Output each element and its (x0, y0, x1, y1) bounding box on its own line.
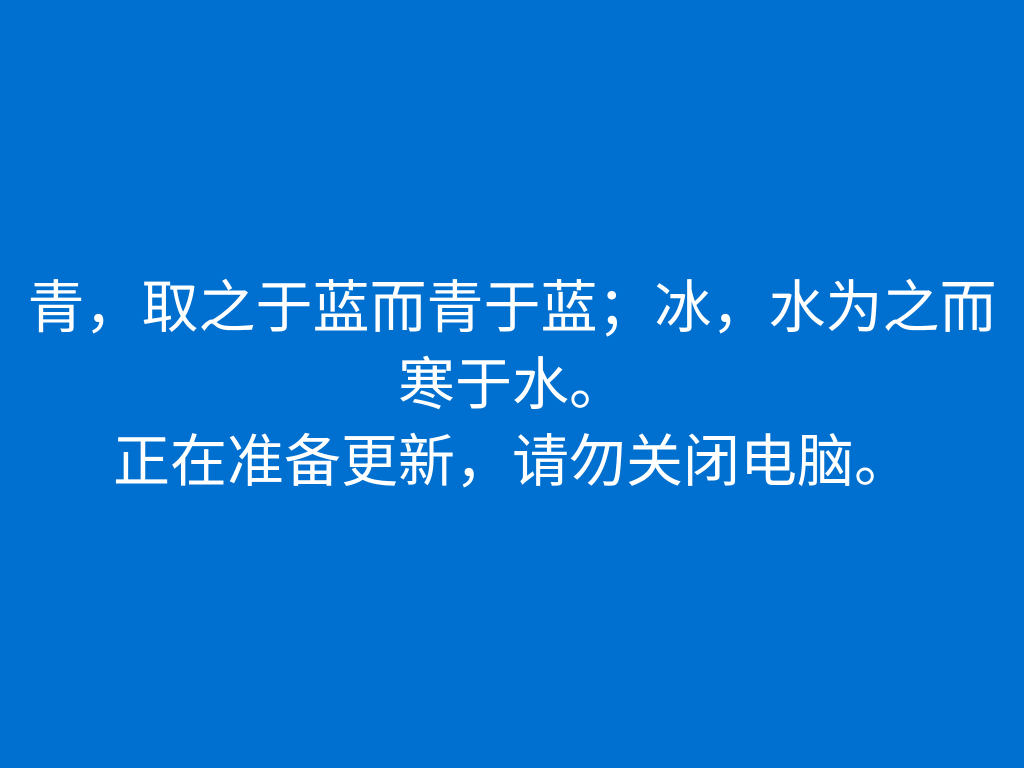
update-message-block: 青，取之于蓝而青于蓝；冰，水为之而寒于水。 正在准备更新，请勿关闭电脑。 (0, 270, 1024, 501)
update-status-text: 正在准备更新，请勿关闭电脑。 (0, 424, 1024, 501)
update-screen: 青，取之于蓝而青于蓝；冰，水为之而寒于水。 正在准备更新，请勿关闭电脑。 (0, 0, 1024, 768)
proverb-text: 青，取之于蓝而青于蓝；冰，水为之而寒于水。 (0, 270, 1024, 424)
